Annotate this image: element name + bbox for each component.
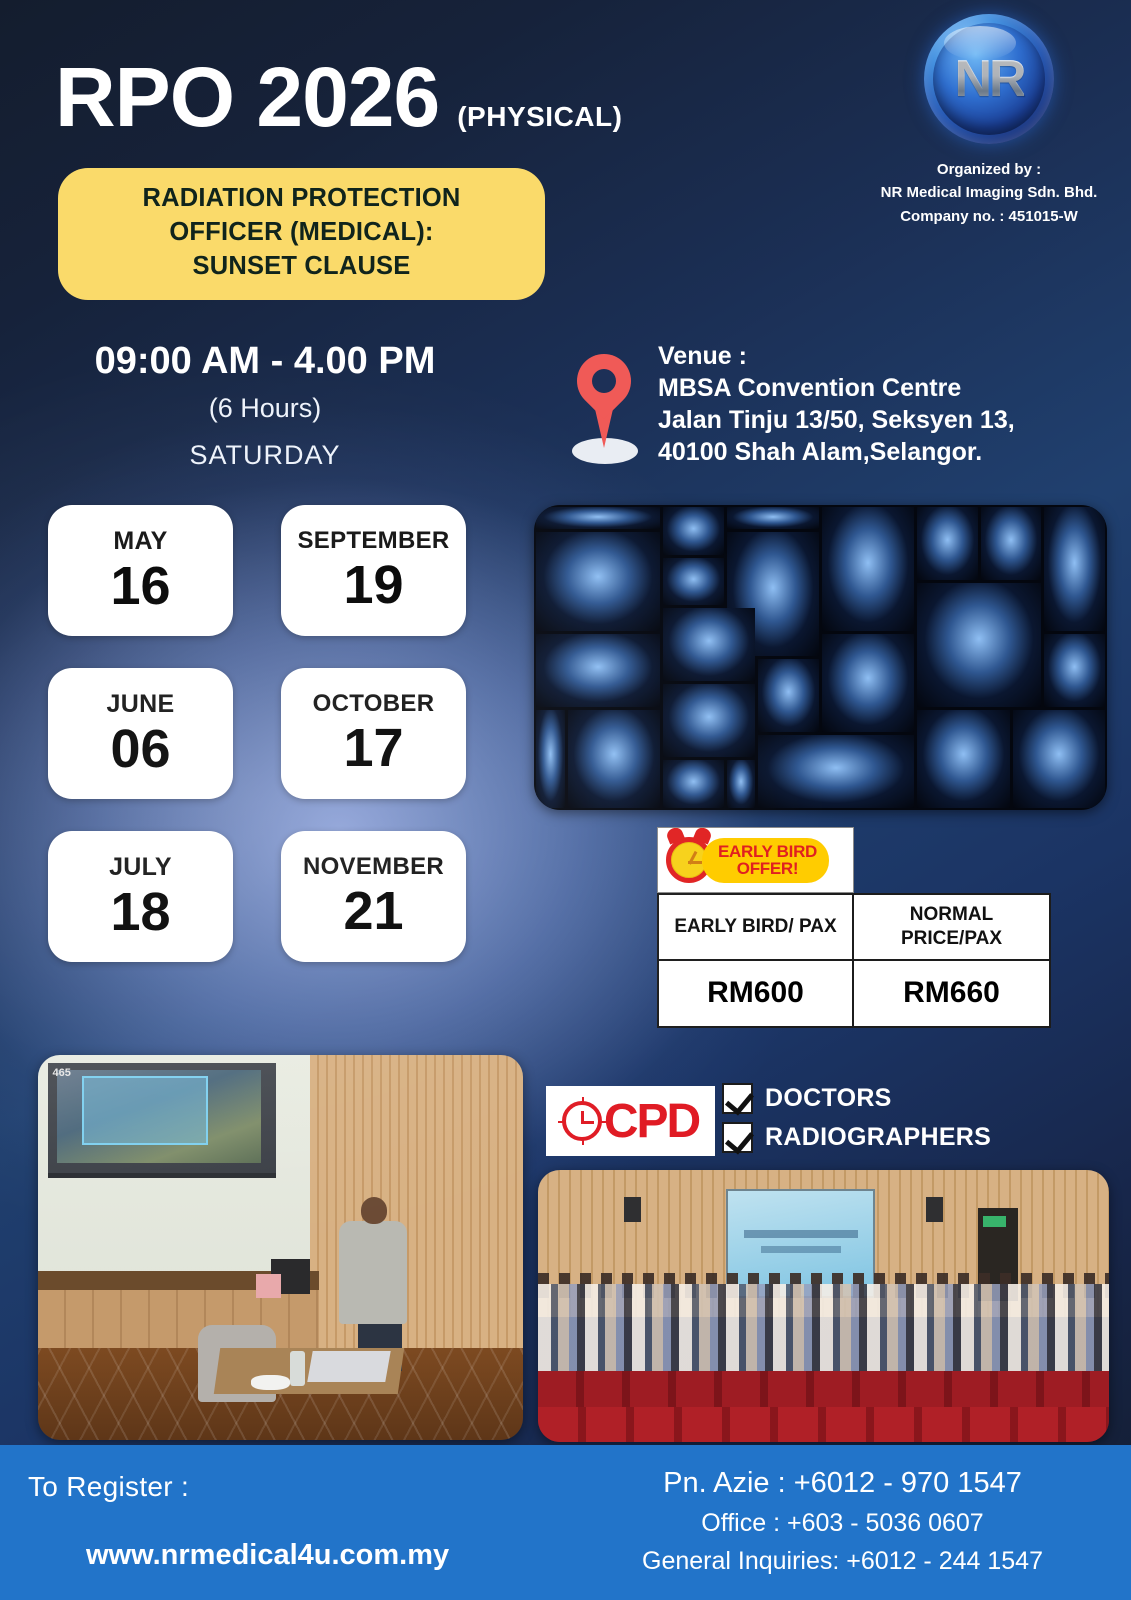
footer: To Register : www.nrmedical4u.com.my Pn.… xyxy=(0,1445,1131,1600)
date-card[interactable]: OCTOBER 17 xyxy=(281,668,466,799)
banner-line-1: RADIATION PROTECTION xyxy=(68,182,535,216)
venue-line-1: MBSA Convention Centre xyxy=(658,372,1015,404)
early-bird-badge: EARLY BIRD OFFER! xyxy=(657,827,854,893)
location-pin-icon xyxy=(566,340,642,468)
date-card[interactable]: JUNE 06 xyxy=(48,668,233,799)
lecture-photo-tag: 465 xyxy=(53,1067,71,1079)
checkbox-checked-icon[interactable] xyxy=(722,1122,753,1153)
footer-contact-block: Pn. Azie : +6012 - 970 1547 Office : +60… xyxy=(570,1467,1115,1576)
company-name: NR Medical Imaging Sdn. Bhd. xyxy=(869,181,1109,204)
date-day: 16 xyxy=(110,558,170,615)
date-month: JULY xyxy=(109,853,172,882)
clock-icon xyxy=(562,1101,602,1141)
xray-collage-image xyxy=(534,505,1107,810)
price-normal-value: RM660 xyxy=(903,976,1000,1010)
date-day: 18 xyxy=(110,884,170,941)
venue-block: Venue : MBSA Convention Centre Jalan Tin… xyxy=(566,340,1015,468)
poster-root: RPO 2026 (PHYSICAL) RADIATION PROTECTION… xyxy=(0,0,1131,1600)
organizer-lines: Organized by : NR Medical Imaging Sdn. B… xyxy=(869,158,1109,228)
list-item: RADIOGRAPHERS xyxy=(722,1122,991,1153)
date-row: JUNE 06 OCTOBER 17 xyxy=(48,668,518,799)
cpd-item-label: RADIOGRAPHERS xyxy=(765,1123,991,1152)
date-cards-grid: MAY 16 SEPTEMBER 19 JUNE 06 OCTOBER 17 J… xyxy=(48,505,518,994)
banner-line-3: SUNSET CLAUSE xyxy=(68,250,535,284)
pricing-header-normal-line2: PRICE/PAX xyxy=(901,928,1002,949)
pricing-header-normal: NORMAL PRICE/PAX xyxy=(854,895,1049,961)
cpd-logo: CPD xyxy=(546,1086,715,1156)
date-month: NOVEMBER xyxy=(303,853,444,881)
schedule-time: 09:00 AM - 4.00 PM xyxy=(0,340,530,383)
date-day: 17 xyxy=(343,720,403,777)
date-day: 06 xyxy=(110,721,170,778)
venue-line-2: Jalan Tinju 13/50, Seksyen 13, xyxy=(658,404,1015,436)
date-card[interactable]: JULY 18 xyxy=(48,831,233,962)
lecture-photo: 465 xyxy=(38,1055,523,1440)
pricing-cell-early: RM600 xyxy=(659,961,854,1027)
pricing-header-normal-label: NORMAL PRICE/PAX xyxy=(901,903,1002,951)
banner-line-2: OFFICER (MEDICAL): xyxy=(68,216,535,250)
organized-by-label: Organized by : xyxy=(869,158,1109,181)
date-row: MAY 16 SEPTEMBER 19 xyxy=(48,505,518,636)
date-day: 19 xyxy=(343,557,403,614)
register-label: To Register : xyxy=(28,1471,449,1503)
organizer-block: NR Organized by : NR Medical Imaging Sdn… xyxy=(869,14,1109,228)
cpd-label: CPD xyxy=(604,1094,699,1149)
checkbox-checked-icon[interactable] xyxy=(722,1083,753,1114)
early-bird-pill: EARLY BIRD OFFER! xyxy=(702,838,829,883)
list-item: DOCTORS xyxy=(722,1083,991,1114)
pricing-header-normal-line1: NORMAL xyxy=(910,904,993,925)
date-card[interactable]: SEPTEMBER 19 xyxy=(281,505,466,636)
contact-office[interactable]: Office : +603 - 5036 0607 xyxy=(570,1509,1115,1538)
early-bird-line-1: EARLY BIRD xyxy=(718,843,817,860)
schedule-block: 09:00 AM - 4.00 PM (6 Hours) SATURDAY xyxy=(0,340,530,471)
venue-line-3: 40100 Shah Alam,Selangor. xyxy=(658,436,1015,468)
schedule-duration: (6 Hours) xyxy=(0,393,530,424)
contact-person[interactable]: Pn. Azie : +6012 - 970 1547 xyxy=(570,1467,1115,1500)
pricing-cell-normal: RM660 xyxy=(854,961,1049,1027)
pricing-header-early-label: EARLY BIRD/ PAX xyxy=(674,915,836,939)
title-row: RPO 2026 (PHYSICAL) xyxy=(55,55,622,139)
venue-label: Venue : xyxy=(658,340,1015,372)
course-title-banner: RADIATION PROTECTION OFFICER (MEDICAL): … xyxy=(58,168,545,300)
nr-logo-mark: NR xyxy=(954,49,1023,109)
title-suffix: (PHYSICAL) xyxy=(457,101,622,133)
date-day: 21 xyxy=(343,883,403,940)
price-early-value: RM600 xyxy=(707,976,804,1010)
company-number: Company no. : 451015-W xyxy=(869,205,1109,228)
date-month: JUNE xyxy=(107,690,175,719)
date-row: JULY 18 NOVEMBER 21 xyxy=(48,831,518,962)
date-card[interactable]: MAY 16 xyxy=(48,505,233,636)
date-month: OCTOBER xyxy=(313,690,435,718)
contact-general[interactable]: General Inquiries: +6012 - 244 1547 xyxy=(570,1547,1115,1576)
venue-text: Venue : MBSA Convention Centre Jalan Tin… xyxy=(658,340,1015,468)
group-photo xyxy=(538,1170,1109,1442)
footer-register-block: To Register : www.nrmedical4u.com.my xyxy=(28,1471,449,1572)
date-month: MAY xyxy=(113,527,167,556)
pricing-table: EARLY BIRD/ PAX NORMAL PRICE/PAX RM600 R… xyxy=(657,893,1051,1028)
schedule-day: SATURDAY xyxy=(0,440,530,471)
page-title: RPO 2026 xyxy=(55,55,439,139)
date-month: SEPTEMBER xyxy=(297,527,449,555)
website-link[interactable]: www.nrmedical4u.com.my xyxy=(86,1539,449,1572)
cpd-audience-list: DOCTORS RADIOGRAPHERS xyxy=(722,1083,991,1161)
nr-logo-icon: NR xyxy=(924,14,1054,144)
cpd-item-label: DOCTORS xyxy=(765,1084,892,1113)
date-card[interactable]: NOVEMBER 21 xyxy=(281,831,466,962)
early-bird-line-2: OFFER! xyxy=(718,860,817,877)
pricing-header-early: EARLY BIRD/ PAX xyxy=(659,895,854,961)
